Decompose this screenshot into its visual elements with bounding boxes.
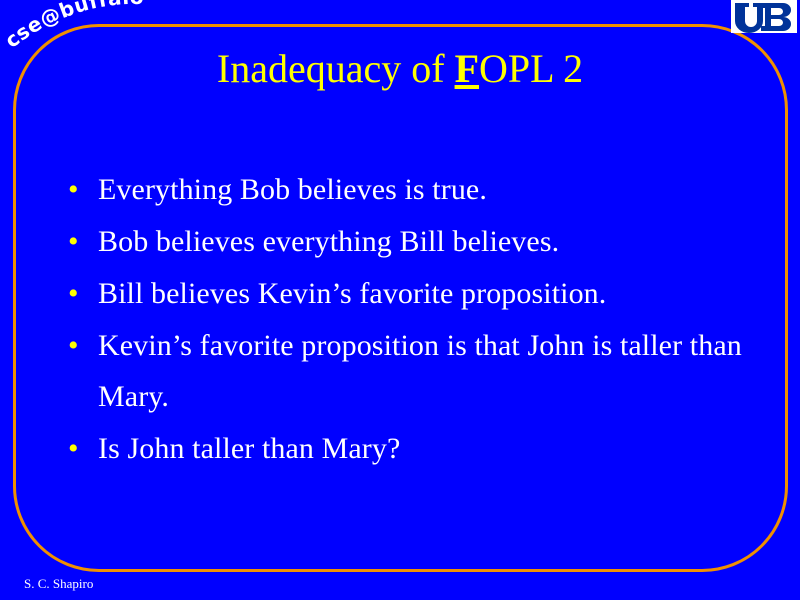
list-item: • Kevin’s favorite proposition is that J… [62,320,742,422]
list-item: • Everything Bob believes is true. [62,164,742,215]
list-item: • Bob believes everything Bill believes. [62,216,742,267]
list-item-label: Bob believes everything Bill believes. [98,216,742,267]
bullet-point-icon: • [62,320,98,371]
bullet-point-icon: • [62,164,98,215]
ub-logo [731,0,797,33]
ub-logo-mark [731,0,797,33]
slide-title-emphasis: F [455,46,479,91]
list-item: • Bill believes Kevin’s favorite proposi… [62,268,742,319]
bullet-list: • Everything Bob believes is true. • Bob… [62,164,742,475]
list-item-label: Bill believes Kevin’s favorite propositi… [98,268,742,319]
slide-title: Inadequacy of FOPL 2 [0,46,800,92]
slide-title-after: OPL 2 [479,46,583,91]
bullet-point-icon: • [62,268,98,319]
list-item-label: Kevin’s favorite proposition is that Joh… [98,320,742,422]
bullet-point-icon: • [62,216,98,267]
list-item-label: Everything Bob believes is true. [98,164,742,215]
list-item-label: Is John taller than Mary? [98,423,742,474]
cse-buffalo-wordmark-text: cse@buffalo [0,0,144,53]
footer-author: S. C. Shapiro [24,576,93,592]
bullet-point-icon: • [62,423,98,474]
list-item: • Is John taller than Mary? [62,423,742,474]
slide-title-before: Inadequacy of [217,46,455,91]
